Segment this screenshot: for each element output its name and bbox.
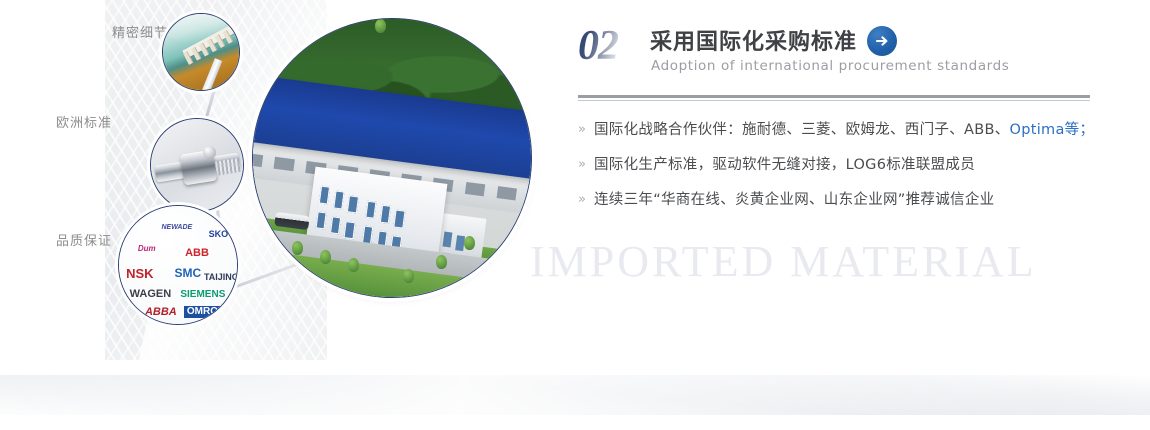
bullet-text: 国际化战略合作伙伴：施耐德、三菱、欧姆龙、西门子、ABB、Optima等； — [594, 120, 1094, 140]
brand-logo-smc: SMC — [174, 267, 201, 279]
chevron-double-right-icon: » — [578, 155, 594, 175]
section-number: 02 — [578, 22, 618, 70]
screw-thread — [213, 158, 241, 176]
header-divider-thin — [578, 100, 1090, 101]
section-title: 采用国际化采购标准 — [650, 24, 857, 56]
header-divider — [578, 95, 1090, 98]
brand-logo-abb: ABB — [185, 248, 209, 259]
bullet-item: »国际化战略合作伙伴：施耐德、三菱、欧姆龙、西门子、ABB、Optima等； — [578, 120, 1093, 140]
brand-logo-dum: Dum — [138, 245, 156, 253]
european-standard-photo — [150, 118, 244, 212]
precision-detail-image — [163, 14, 239, 90]
bullet-item: »国际化生产标准，驱动软件无缝对接，LOG6标准联盟成员 — [578, 155, 1093, 175]
watermark-text: IMPORTED MATERIAL — [530, 236, 1037, 287]
quality-brands-photo: NEWADESKODumABBNSKSMCTAIJINGWAGENSIEMENS… — [118, 205, 238, 325]
roadside-tree — [403, 269, 414, 283]
chevron-double-right-icon: » — [578, 190, 594, 210]
screw-boss — [203, 146, 216, 159]
bullet-highlight: Optima等； — [1010, 122, 1095, 138]
roadside-tree — [292, 241, 303, 255]
brand-logo-collage: NEWADESKODumABBNSKSMCTAIJINGWAGENSIEMENS… — [119, 206, 237, 324]
bullet-text: 国际化生产标准，驱动软件无缝对接，LOG6标准联盟成员 — [594, 155, 975, 175]
label-precision-detail: 精密细节 — [112, 22, 168, 41]
brand-logo-omron: OMRON — [184, 306, 228, 318]
brand-logo-sko: SKO — [209, 230, 229, 239]
bullet-list: »国际化战略合作伙伴：施耐德、三菱、欧姆龙、西门子、ABB、Optima等；»国… — [578, 120, 1093, 225]
brand-logo-newade: NEWADE — [161, 224, 192, 231]
content-column: 02 采用国际化采购标准 Adoption of international p… — [578, 22, 1093, 84]
section-header: 02 采用国际化采购标准 Adoption of international p… — [578, 22, 1093, 84]
bullet-item: »连续三年“华商在线、炎黄企业网、山东企业网”推荐诚信企业 — [578, 190, 1093, 210]
brand-logo-taijing: TAIJING — [204, 273, 238, 282]
ball-screw-image — [151, 119, 243, 211]
precision-detail-photo — [162, 13, 240, 91]
brand-logo-abba: ABBA — [145, 307, 177, 318]
chevron-double-right-icon: » — [578, 120, 594, 140]
brand-logo-siemens: SIEMENS — [180, 290, 225, 300]
brand-logo-nsk: NSK — [126, 267, 153, 280]
label-european-standard: 欧洲标准 — [56, 112, 112, 131]
bullet-text: 连续三年“华商在线、炎黄企业网、山东企业网”推荐诚信企业 — [594, 190, 994, 210]
arrow-right-circle-icon[interactable] — [867, 26, 897, 56]
section-banner: 精密细节 欧洲标准 品质保证 NEWADESKODumABBNSKSMCTAIJ… — [0, 0, 1150, 430]
label-quality-assurance: 品质保证 — [56, 230, 112, 249]
roadside-tree — [375, 19, 386, 33]
roadside-tree — [464, 236, 475, 250]
roadside-tree — [348, 258, 359, 272]
factory-photo — [252, 18, 532, 298]
roadside-tree — [320, 250, 331, 264]
bottom-fade — [0, 415, 1150, 430]
brand-logo-wagen: WAGEN — [130, 289, 172, 300]
section-subtitle: Adoption of international procurement st… — [651, 58, 1009, 74]
